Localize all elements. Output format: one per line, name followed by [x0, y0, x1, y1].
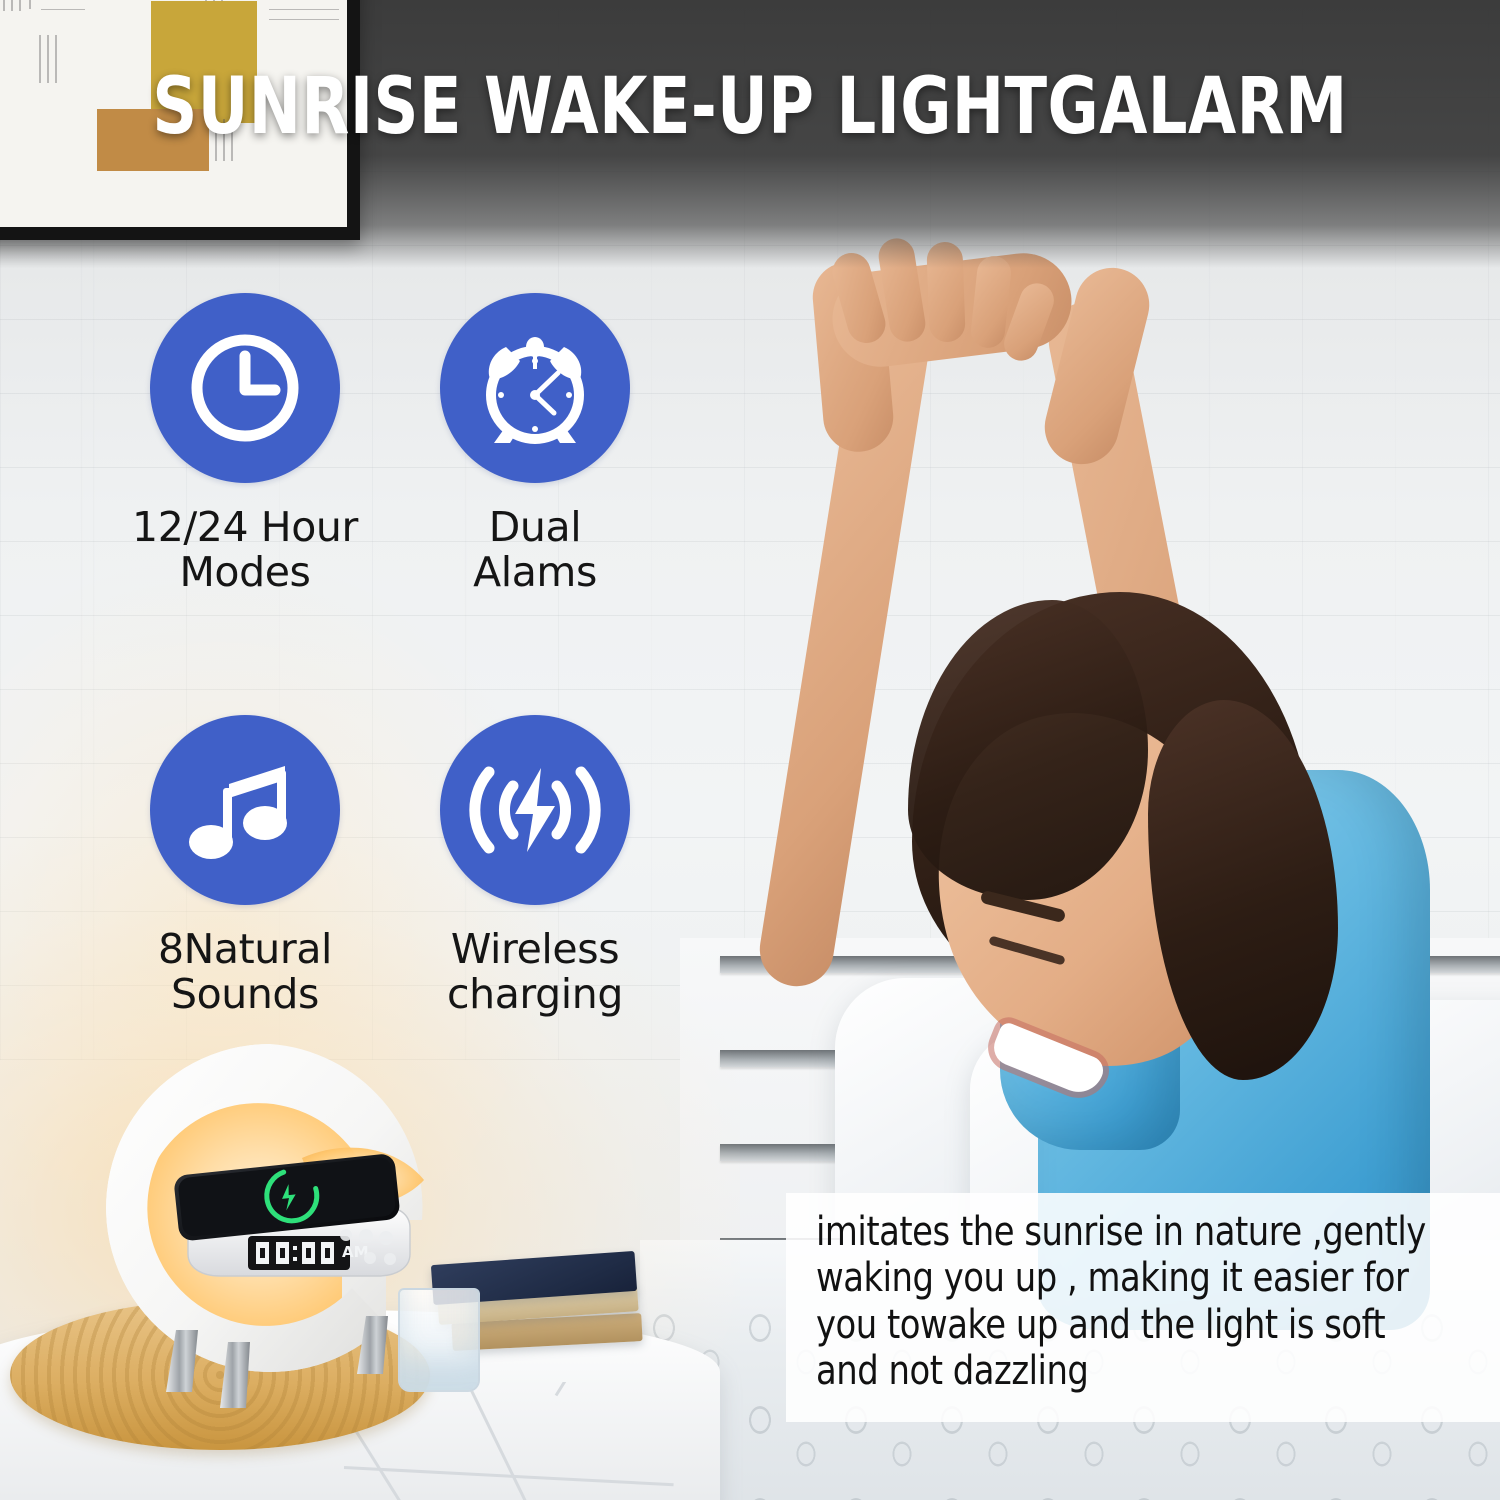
feature-badge: [150, 715, 340, 905]
feature-label: 12/24 Hour Modes: [100, 505, 390, 595]
feature-badge: [440, 293, 630, 483]
alarm-clock-icon: [470, 323, 600, 453]
caption-line-1: imitates the sunrise in nature ,gently: [816, 1209, 1451, 1255]
hair-front: [908, 600, 1148, 900]
feature-label: Dual Alams: [390, 505, 680, 595]
caption-line-4: and not dazzling: [816, 1348, 1451, 1394]
page-title: SUNRISE WAKE-UP LIGHTGALARM: [150, 62, 1350, 152]
feature-label: 8Natural Sounds: [100, 927, 390, 1017]
feature-item-wireless-charging[interactable]: Wireless charging: [390, 715, 680, 1017]
feature-item-dual-alarms[interactable]: Dual Alams: [390, 293, 680, 595]
music-note-icon: [185, 750, 305, 870]
caption-line-2: waking you up , making it easier for: [816, 1255, 1451, 1301]
feature-row-1: 12/24 Hour Modes: [100, 293, 680, 595]
clock-icon: [181, 324, 309, 452]
feature-list: 12/24 Hour Modes: [100, 293, 680, 1017]
feature-item-natural-sounds[interactable]: 8Natural Sounds: [100, 715, 390, 1017]
product-description-box: imitates the sunrise in nature ,gently w…: [786, 1193, 1500, 1422]
product-marketing-image: AM: [0, 0, 1500, 1500]
feature-badge: [440, 715, 630, 905]
feature-item-12-24-hour-modes[interactable]: 12/24 Hour Modes: [100, 293, 390, 595]
feature-label: Wireless charging: [390, 927, 680, 1017]
feature-row-2: 8Natural Sounds: [100, 715, 680, 1017]
sunrise-wake-up-light-lamp: AM: [80, 1030, 460, 1420]
feature-badge: [150, 293, 340, 483]
wireless-charging-icon: [469, 750, 601, 870]
caption-line-3: you towake up and the light is soft: [816, 1302, 1451, 1348]
